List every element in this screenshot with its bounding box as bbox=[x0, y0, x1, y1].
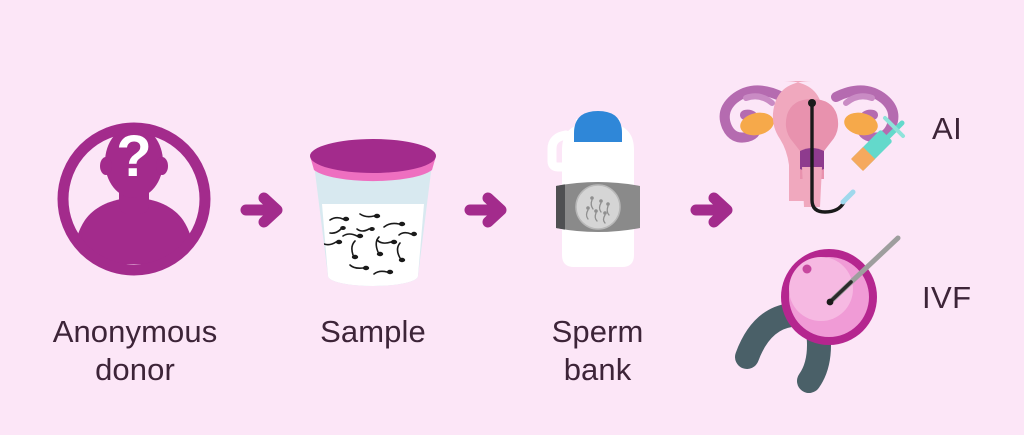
outcome-ivf-illustration bbox=[735, 235, 920, 385]
bottle-emblem bbox=[576, 185, 620, 229]
step-anonymous-donor: ? bbox=[55, 120, 215, 278]
icsi-egg-icon bbox=[735, 235, 920, 385]
donor-ear-right bbox=[156, 157, 168, 175]
arrow-sample-to-bank bbox=[466, 193, 508, 227]
needle-entry-point bbox=[827, 299, 834, 306]
anonymous-donor-icon: ? bbox=[55, 120, 215, 278]
uterus-insemination-icon bbox=[712, 55, 912, 215]
arrow-right-icon bbox=[242, 193, 284, 227]
caption-anonymous-donor: Anonymous donor bbox=[10, 313, 260, 389]
catheter-tip bbox=[808, 99, 816, 107]
step-sample bbox=[298, 126, 448, 286]
sperm-donation-infographic: ? Anonymous donor bbox=[0, 0, 1024, 435]
fimbria-right bbox=[846, 96, 872, 103]
polar-body bbox=[803, 265, 812, 274]
syringe-nozzle bbox=[843, 192, 853, 202]
arrow-right-icon bbox=[466, 193, 508, 227]
outcome-ai-illustration bbox=[712, 55, 912, 215]
caption-sample: Sample bbox=[268, 313, 478, 351]
bottle-cap bbox=[574, 111, 622, 142]
sample-cup-icon bbox=[298, 126, 448, 286]
cup-liquid-group bbox=[322, 204, 424, 286]
arrow-donor-to-sample bbox=[242, 193, 284, 227]
fimbria-left bbox=[746, 96, 772, 103]
cup-lid-top bbox=[310, 139, 436, 173]
donor-ear-left bbox=[100, 157, 112, 175]
question-mark-icon: ? bbox=[116, 124, 151, 189]
label-ivf: IVF bbox=[922, 282, 971, 313]
step-sperm-bank bbox=[538, 105, 658, 280]
bottle-label-band-edge bbox=[556, 184, 565, 229]
label-ai: AI bbox=[932, 113, 962, 144]
caption-sperm-bank: Sperm bank bbox=[495, 313, 700, 389]
cryo-bottle-icon bbox=[538, 105, 658, 280]
